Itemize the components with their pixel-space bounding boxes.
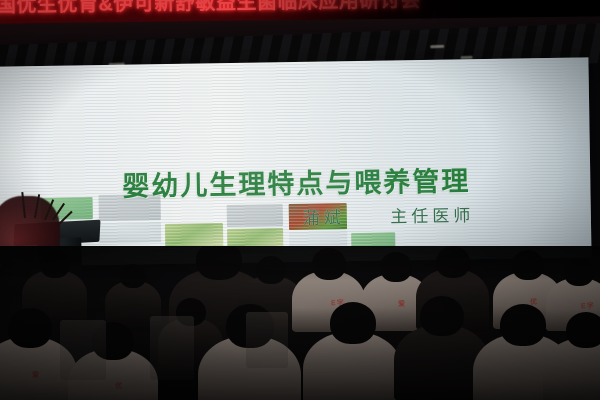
tile-pale-1 [99, 222, 161, 243]
presenter-title: 主任医师 [390, 206, 474, 226]
tile-scanline-sheen [165, 223, 223, 248]
audience-member-head [436, 246, 470, 278]
chair-back [60, 320, 106, 380]
audience-member-head [564, 258, 594, 286]
audience-member-head [512, 250, 544, 280]
audience-member-head [500, 304, 546, 346]
chair-back [150, 316, 194, 380]
conference-photo: 婴幼儿生理特点与喂养管理 蒲斌 主任医师 E字爱优E字爱优 国优生优育&伊可新舒… [0, 0, 600, 400]
ceiling-light-glint [430, 45, 444, 49]
shirt-print-mark: E字 [581, 301, 595, 311]
audience-member-head [40, 250, 70, 278]
audience-member-head [120, 264, 146, 288]
tile-leaf-1 [165, 223, 223, 248]
audience-member-head [420, 296, 464, 336]
shirt-print-mark: 爱 [398, 299, 406, 309]
tile-scanline-sheen [227, 204, 283, 227]
audience-member-head [566, 312, 600, 348]
audience-member-head [380, 252, 412, 282]
slide-subtitle: 蒲斌 主任医师 [303, 201, 475, 229]
tile-grey-2 [227, 204, 283, 227]
slide-title: 婴幼儿生理特点与喂养管理 [122, 159, 471, 203]
shirt-print-mark: 爱 [32, 370, 40, 380]
audience-area: E字爱优E字爱优 [0, 246, 600, 400]
led-banner-text: 国优生优育&伊可新舒敏益生菌临床应用研讨会 [0, 0, 421, 17]
audience-member-head [196, 246, 242, 280]
shirt-print-mark: 优 [115, 381, 123, 391]
presenter-name: 蒲斌 [303, 208, 345, 228]
tile-scanline-sheen [99, 222, 161, 243]
chair-back [246, 312, 288, 368]
audience-member-head [256, 256, 286, 284]
audience-member-head [312, 248, 346, 280]
audience-member-head [8, 308, 52, 348]
audience-member-head [330, 302, 376, 344]
